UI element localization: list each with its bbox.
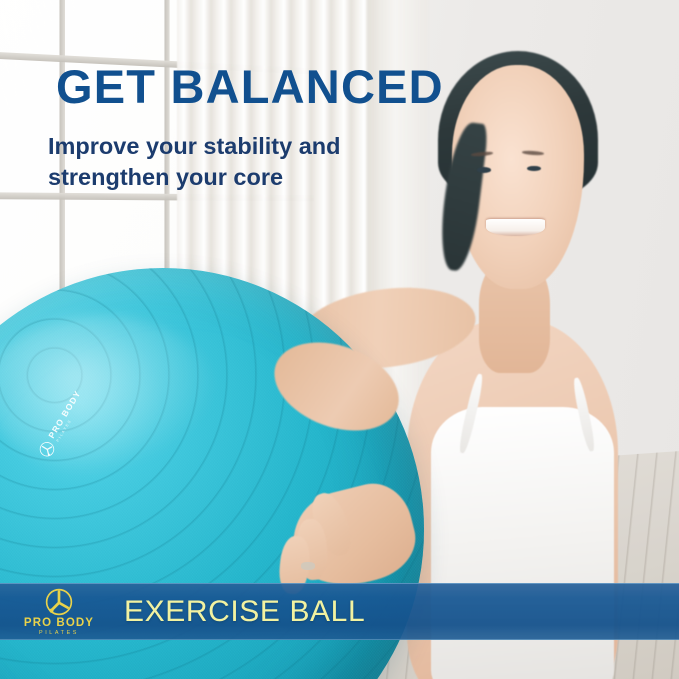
- model-smile: [486, 219, 544, 236]
- subtitle: Improve your stability and strengthen yo…: [48, 131, 341, 194]
- brand-logo-sub: PILATES: [39, 631, 79, 636]
- model-ring: [301, 562, 315, 569]
- subtitle-line-2: strengthen your core: [48, 162, 341, 193]
- product-marketing-image: PRO BODY PILATES GET BALANCED Improve yo…: [0, 0, 679, 679]
- brand-logo-name: PRO BODY: [24, 618, 94, 630]
- product-name-banner: PRO BODY PILATES EXERCISE BALL: [0, 583, 679, 640]
- page-title: GET BALANCED: [56, 63, 444, 110]
- pro-body-pilates-emblem-icon: [44, 587, 74, 617]
- model-eye-left: [477, 167, 491, 173]
- product-name: EXERCISE BALL: [124, 595, 365, 629]
- brand-logo: PRO BODY PILATES: [22, 587, 96, 637]
- subtitle-line-1: Improve your stability and: [48, 131, 341, 162]
